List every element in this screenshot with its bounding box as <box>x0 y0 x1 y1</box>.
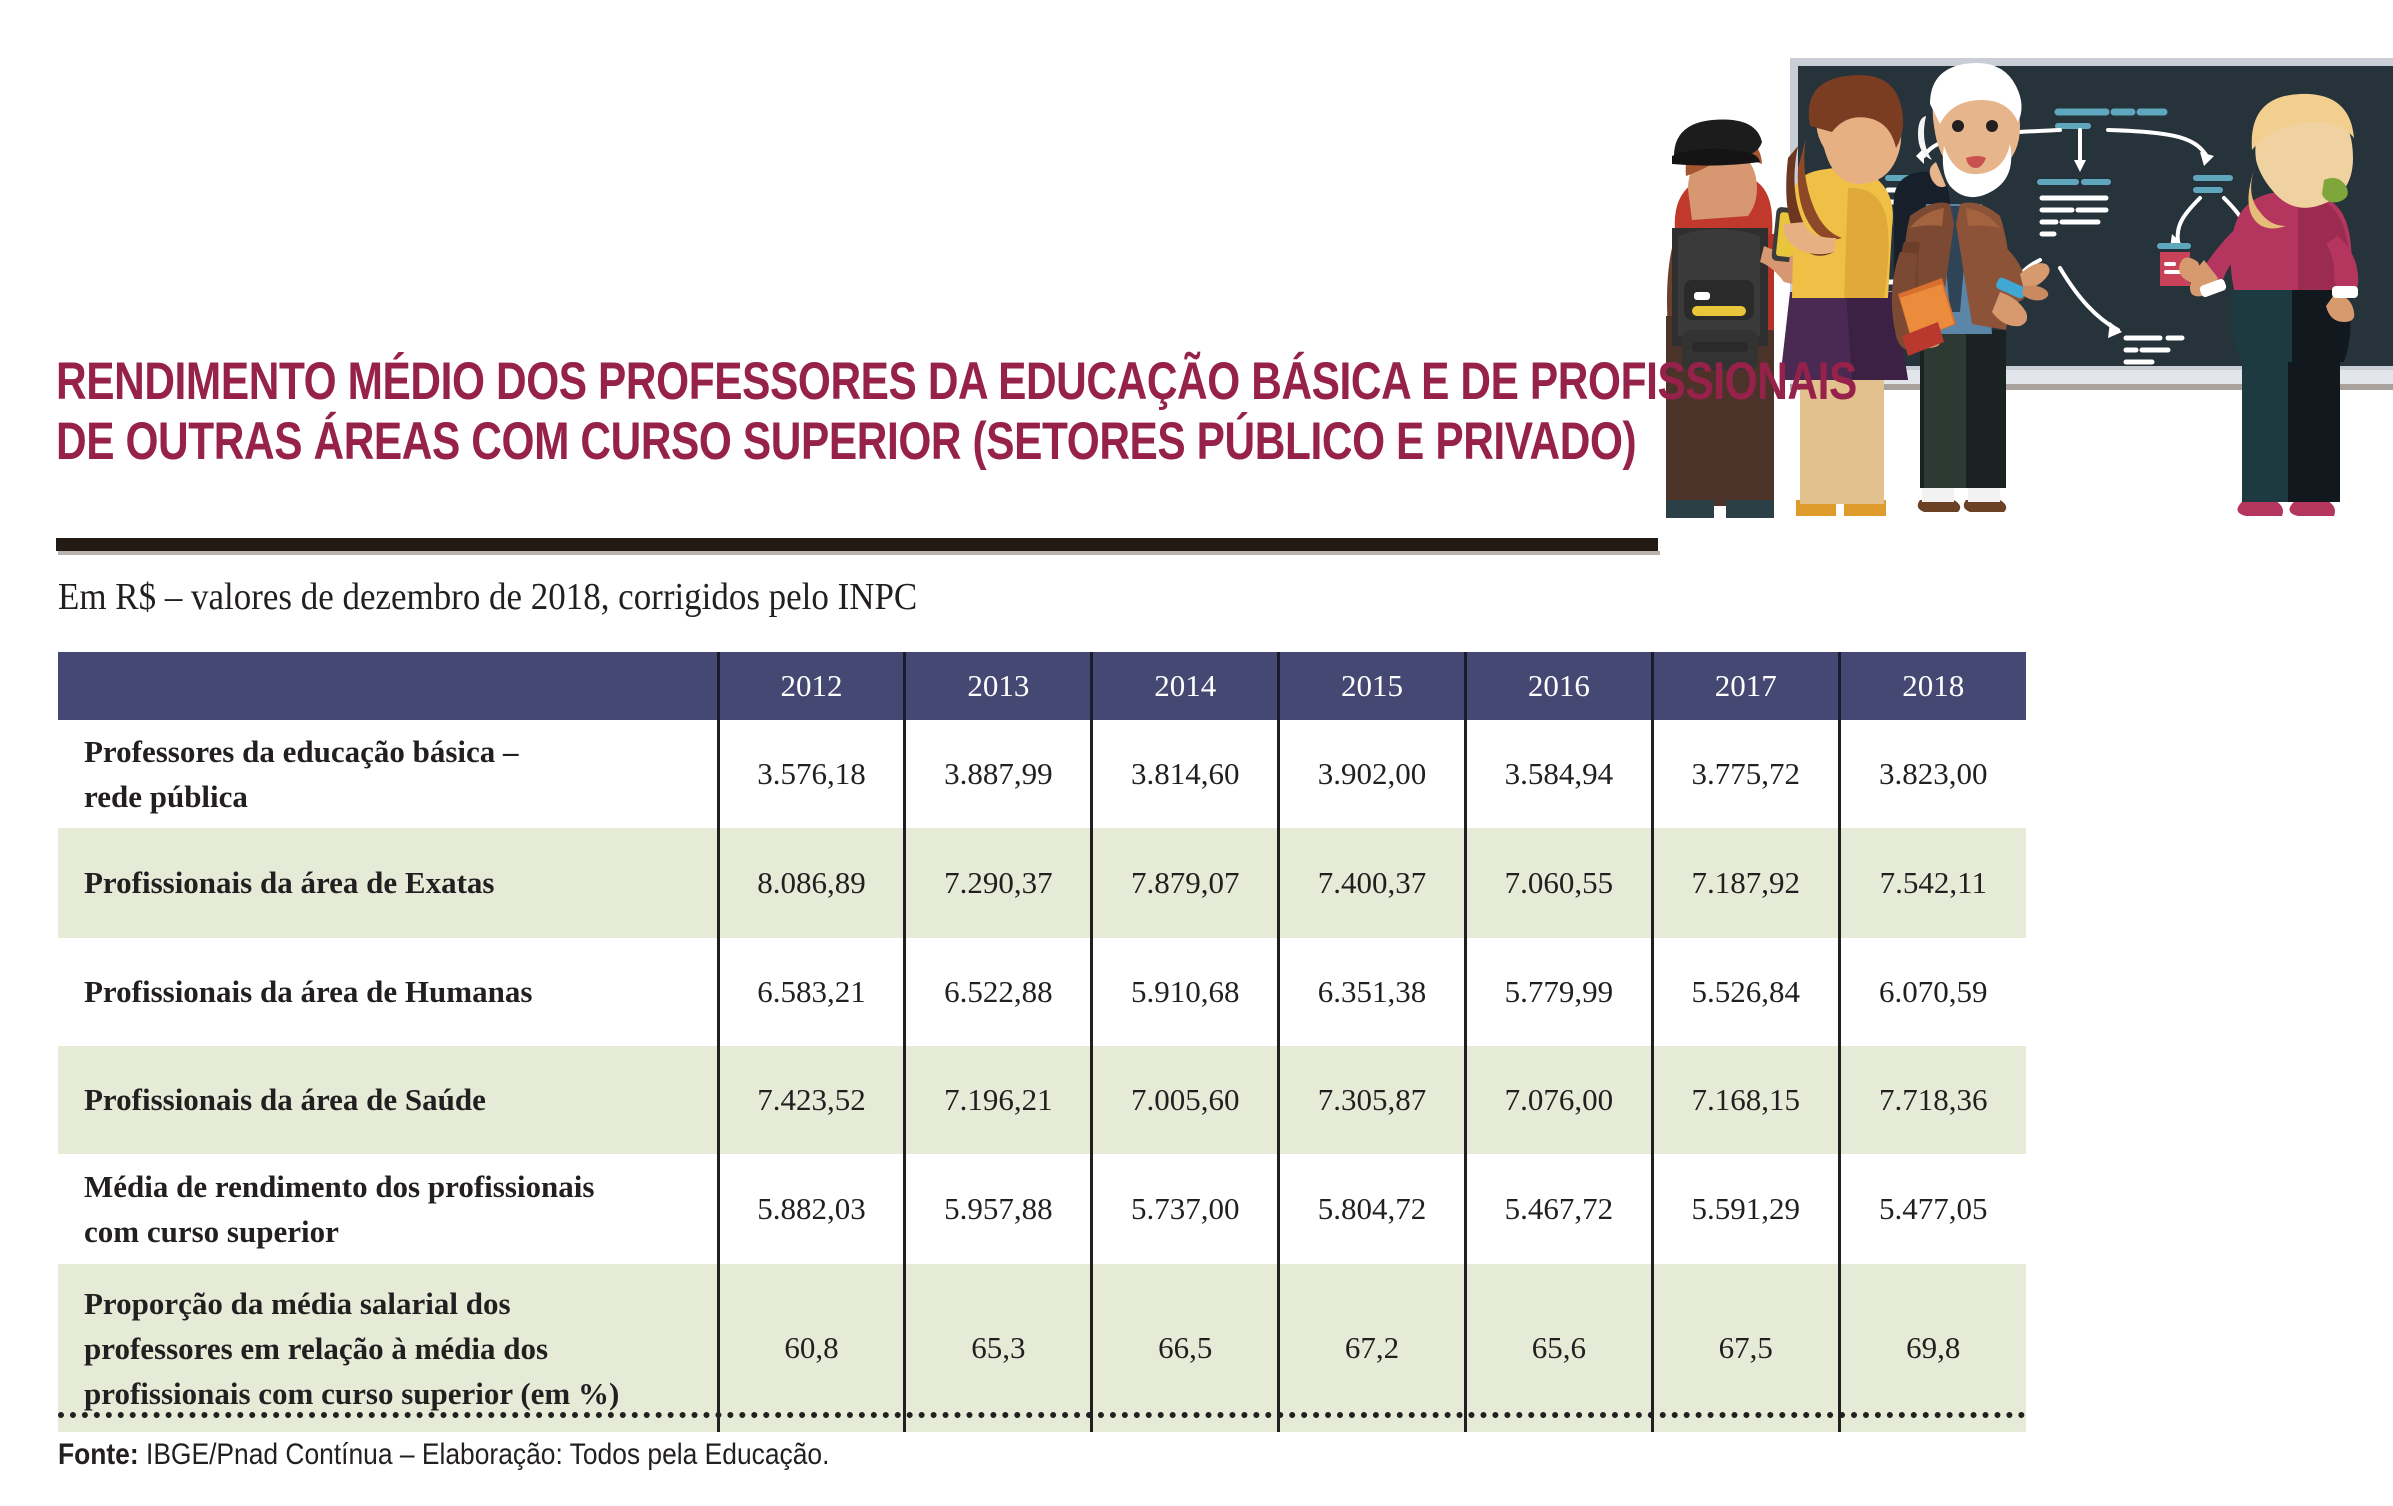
cell-r0-c0: 3.576,18 <box>718 720 905 828</box>
cell-r5-c3: 67,2 <box>1279 1264 1466 1432</box>
table-row: Média de rendimento dos profissionais co… <box>58 1154 2026 1264</box>
title-divider-shadow <box>58 551 1660 555</box>
title-line-2: DE OUTRAS ÁREAS COM CURSO SUPERIOR (SETO… <box>56 412 1336 472</box>
cell-r4-c6: 5.477,05 <box>1839 1154 2026 1264</box>
cell-r4-c3: 5.804,72 <box>1279 1154 1466 1264</box>
table-row: Profissionais da área de Saúde 7.423,52 … <box>58 1046 2026 1154</box>
cell-r0-c2: 3.814,60 <box>1092 720 1279 828</box>
cell-r1-c1: 7.290,37 <box>905 828 1092 938</box>
cell-r2-c6: 6.070,59 <box>1839 938 2026 1046</box>
row-label-media-rendimento: Média de rendimento dos profissionais co… <box>58 1154 718 1264</box>
cell-r0-c1: 3.887,99 <box>905 720 1092 828</box>
cell-r0-c6: 3.823,00 <box>1839 720 2026 828</box>
table-row: Profissionais da área de Humanas 6.583,2… <box>58 938 2026 1046</box>
cell-r3-c6: 7.718,36 <box>1839 1046 2026 1154</box>
source-text: IBGE/Pnad Contínua – Elaboração: Todos p… <box>139 1438 830 1471</box>
source-label: Fonte: <box>58 1438 139 1471</box>
header-cell-2018: 2018 <box>1839 652 2026 720</box>
cell-r1-c4: 7.060,55 <box>1465 828 1652 938</box>
cell-r3-c0: 7.423,52 <box>718 1046 905 1154</box>
cell-r3-c2: 7.005,60 <box>1092 1046 1279 1154</box>
row-label-saude: Profissionais da área de Saúde <box>58 1046 718 1154</box>
cell-r2-c1: 6.522,88 <box>905 938 1092 1046</box>
header-cell-2016: 2016 <box>1465 652 1652 720</box>
cell-r5-c5: 67,5 <box>1652 1264 1839 1432</box>
cell-r2-c3: 6.351,38 <box>1279 938 1466 1046</box>
header-cell-2014: 2014 <box>1092 652 1279 720</box>
row-label-humanas: Profissionais da área de Humanas <box>58 938 718 1046</box>
cell-r0-c5: 3.775,72 <box>1652 720 1839 828</box>
cell-r3-c3: 7.305,87 <box>1279 1046 1466 1154</box>
cell-r4-c1: 5.957,88 <box>905 1154 1092 1264</box>
cell-r5-c2: 66,5 <box>1092 1264 1279 1432</box>
table-row: Proporção da média salarial dos professo… <box>58 1264 2026 1432</box>
header-cell-2013: 2013 <box>905 652 1092 720</box>
header-cell-label <box>58 652 718 720</box>
cell-r4-c2: 5.737,00 <box>1092 1154 1279 1264</box>
footer-dotted-divider <box>58 1412 2026 1418</box>
cell-r1-c3: 7.400,37 <box>1279 828 1466 938</box>
cell-r4-c0: 5.882,03 <box>718 1154 905 1264</box>
subtitle-units: Em R$ – valores de dezembro de 2018, cor… <box>58 575 917 619</box>
table-row: Profissionais da área de Exatas 8.086,89… <box>58 828 2026 938</box>
table-head: 2012 2013 2014 2015 2016 2017 2018 <box>58 652 2026 720</box>
page-title: RENDIMENTO MÉDIO DOS PROFESSORES DA EDUC… <box>56 352 1656 472</box>
cell-r3-c5: 7.168,15 <box>1652 1046 1839 1154</box>
title-divider-rule <box>56 538 1658 551</box>
header-cell-2017: 2017 <box>1652 652 1839 720</box>
cell-r3-c4: 7.076,00 <box>1465 1046 1652 1154</box>
row-label-exatas: Profissionais da área de Exatas <box>58 828 718 938</box>
cell-r0-c4: 3.584,94 <box>1465 720 1652 828</box>
cell-r0-c3: 3.902,00 <box>1279 720 1466 828</box>
header-row: 2012 2013 2014 2015 2016 2017 2018 <box>58 652 2026 720</box>
table-row: Professores da educação básica – rede pú… <box>58 720 2026 828</box>
title-line-1: RENDIMENTO MÉDIO DOS PROFESSORES DA EDUC… <box>56 352 1336 412</box>
cell-r1-c2: 7.879,07 <box>1092 828 1279 938</box>
source-note: Fonte: IBGE/Pnad Contínua – Elaboração: … <box>58 1438 829 1472</box>
header-cell-2012: 2012 <box>718 652 905 720</box>
data-table-container: 2012 2013 2014 2015 2016 2017 2018 Profe… <box>58 652 2026 1432</box>
row-label-proporcao: Proporção da média salarial dos professo… <box>58 1264 718 1432</box>
cell-r5-c1: 65,3 <box>905 1264 1092 1432</box>
cell-r2-c5: 5.526,84 <box>1652 938 1839 1046</box>
header-cell-2015: 2015 <box>1279 652 1466 720</box>
cell-r4-c4: 5.467,72 <box>1465 1154 1652 1264</box>
cell-r2-c2: 5.910,68 <box>1092 938 1279 1046</box>
income-table: 2012 2013 2014 2015 2016 2017 2018 Profe… <box>58 652 2026 1432</box>
cell-r1-c5: 7.187,92 <box>1652 828 1839 938</box>
cell-r5-c4: 65,6 <box>1465 1264 1652 1432</box>
cell-r1-c0: 8.086,89 <box>718 828 905 938</box>
cell-r4-c5: 5.591,29 <box>1652 1154 1839 1264</box>
table-body: Professores da educação básica – rede pú… <box>58 720 2026 1432</box>
classroom-illustration <box>1648 30 2393 560</box>
row-label-professores-publica: Professores da educação básica – rede pú… <box>58 720 718 828</box>
cell-r2-c4: 5.779,99 <box>1465 938 1652 1046</box>
cell-r2-c0: 6.583,21 <box>718 938 905 1046</box>
cell-r3-c1: 7.196,21 <box>905 1046 1092 1154</box>
cell-r1-c6: 7.542,11 <box>1839 828 2026 938</box>
cell-r5-c0: 60,8 <box>718 1264 905 1432</box>
cell-r5-c6: 69,8 <box>1839 1264 2026 1432</box>
